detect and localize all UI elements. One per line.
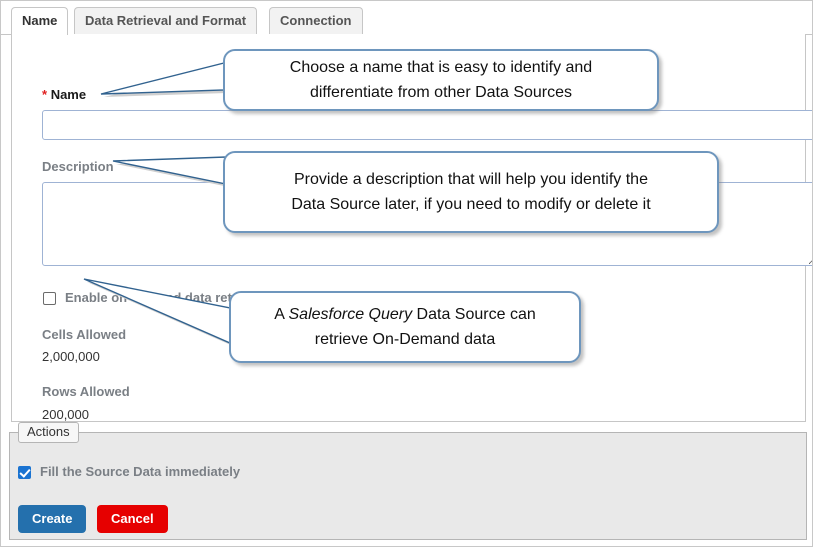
callout-on-demand-line1-suffix: Data Source can: [412, 306, 536, 323]
create-button[interactable]: Create: [18, 505, 86, 533]
callout-name-line2: differentiate from other Data Sources: [310, 84, 572, 101]
callout-on-demand-line2: retrieve On-Demand data: [315, 331, 496, 348]
on-demand-checkbox[interactable]: [43, 292, 56, 305]
actions-fieldset: Actions Fill the Source Data immediately…: [9, 432, 807, 540]
tab-connection[interactable]: Connection: [269, 7, 363, 34]
actions-legend: Actions: [18, 422, 79, 443]
callout-name: Choose a name that is easy to identify a…: [223, 49, 659, 111]
rows-allowed-label: Rows Allowed: [42, 384, 130, 399]
required-asterisk-icon: *: [42, 87, 47, 102]
callout-on-demand: A Salesforce Query Data Source can retri…: [229, 291, 581, 363]
name-field-label: * Name: [42, 87, 86, 102]
callout-name-line1: Choose a name that is easy to identify a…: [290, 59, 592, 76]
fill-source-data-checkbox[interactable]: [18, 466, 31, 479]
name-input[interactable]: [42, 110, 813, 140]
cells-allowed-label: Cells Allowed: [42, 327, 126, 342]
callout-on-demand-line1-prefix: A: [274, 306, 288, 323]
cells-allowed-value: 2,000,000: [42, 349, 100, 364]
fill-source-data-label: Fill the Source Data immediately: [40, 464, 240, 479]
name-label-text: Name: [51, 87, 86, 102]
description-field-label: Description: [42, 159, 114, 174]
callout-description: Provide a description that will help you…: [223, 151, 719, 233]
tab-name[interactable]: Name: [11, 7, 68, 35]
callout-on-demand-line1-italic: Salesforce Query: [289, 306, 413, 323]
callout-description-line2: Data Source later, if you need to modify…: [291, 196, 650, 213]
tab-bar: Name Data Retrieval and Format Connectio…: [1, 1, 813, 35]
rows-allowed-value: 200,000: [42, 407, 89, 422]
tab-data-retrieval-and-format[interactable]: Data Retrieval and Format: [74, 7, 257, 34]
callout-description-line1: Provide a description that will help you…: [294, 171, 648, 188]
cancel-button[interactable]: Cancel: [97, 505, 168, 533]
data-source-dialog: Name Data Retrieval and Format Connectio…: [0, 0, 813, 547]
